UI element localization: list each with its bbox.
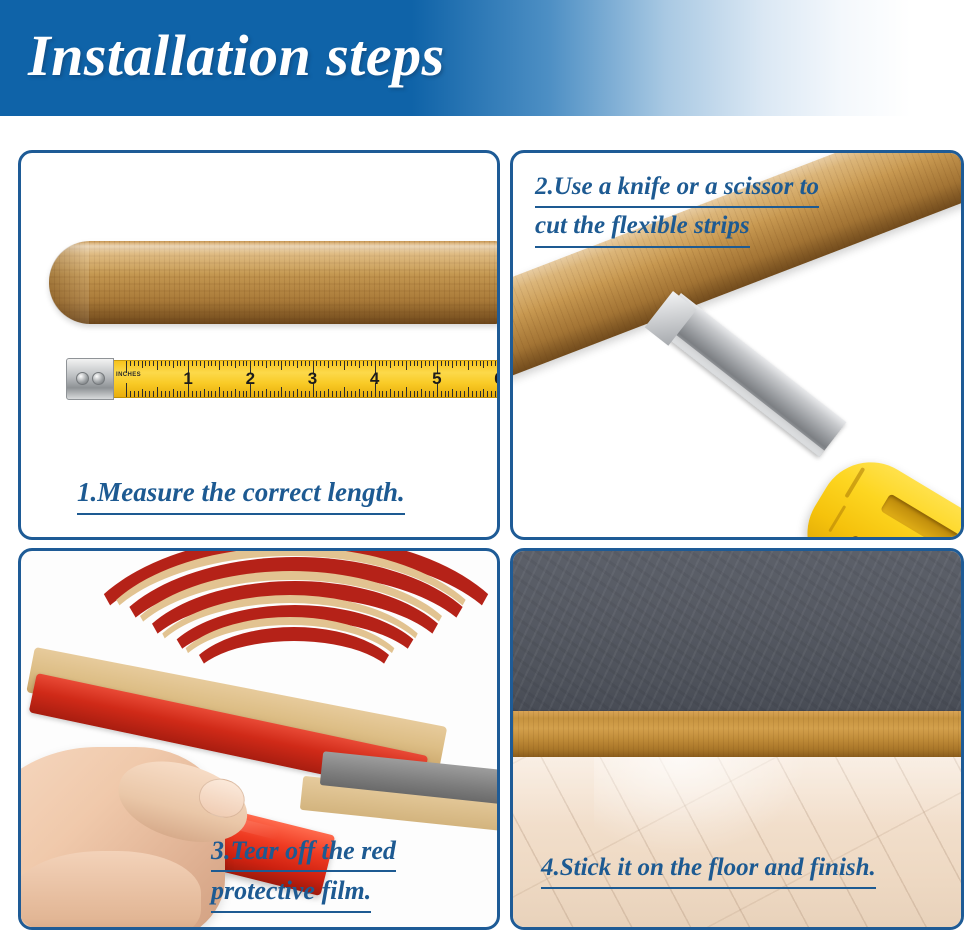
step-3-caption: 3.Tear off the red protective film. [211,832,396,913]
tape-tick [270,361,271,366]
tape-tick [219,387,220,397]
tape-tick [281,387,282,397]
tape-tick [165,361,166,366]
tape-tick [270,391,271,397]
tape-tick [421,389,422,397]
step-2-caption-line2: cut the flexible strips [535,208,750,247]
tape-tick [371,391,372,397]
tape-number-label: 3 [308,369,317,389]
wood-plank-floor [513,757,961,927]
tape-tick [316,361,317,366]
tape-tick [487,391,488,397]
tape-tick [157,387,158,397]
tape-tick [464,361,465,366]
tape-tick [130,361,131,366]
step-panel-3: 3.Tear off the red protective film. [18,548,500,930]
step-panel-1: 123456 INCHES 1.Measure the correct leng… [18,150,500,540]
tape-tick [344,387,345,397]
tape-tick [215,361,216,366]
tape-tick [320,391,321,397]
tape-tick [211,361,212,366]
tape-tick [499,383,500,397]
tape-tick [491,361,492,366]
handle-slot [880,493,964,540]
tape-tick [134,361,135,366]
tape-tick [429,391,430,397]
tape-tick [161,391,162,397]
tape-tick [142,361,143,368]
tape-tick [351,391,352,397]
tape-measure-unit-label: INCHES [116,372,141,378]
tape-tick [153,361,154,366]
tape-tick [161,361,162,366]
tape-tick [344,361,345,370]
tape-tick [254,391,255,397]
tape-tick [359,389,360,397]
tape-tick [379,361,380,366]
tape-tick [301,361,302,366]
tape-tick [487,361,488,366]
tape-tick [472,361,473,366]
tape-measure-hook [66,358,114,400]
tape-tick [367,361,368,366]
tape-tick [340,361,341,366]
tape-tick [355,391,356,397]
tape-tick [379,391,380,397]
tape-tick [433,391,434,397]
floor-light-reflection [594,757,809,856]
tape-tick [464,391,465,397]
tape-tick [480,391,481,397]
tape-tick [460,391,461,397]
tape-tick [239,391,240,397]
tape-tick [351,361,352,366]
tape-tick [235,389,236,397]
tape-tick [367,391,368,397]
tape-tick [200,391,201,397]
tape-tick [285,361,286,366]
tape-tick [173,361,174,368]
tape-tick [262,361,263,366]
step-panel-4: 4.Stick it on the floor and finish. [510,548,964,930]
tape-tick [142,389,143,397]
tape-tick [243,391,244,397]
tape-tick [468,387,469,397]
tape-tick [177,391,178,397]
tape-number-label: 5 [432,369,441,389]
tape-number-label: 6 [494,369,500,389]
tape-hook-rivet [76,372,89,385]
tape-tick [204,361,205,368]
tape-hook-rivet [92,372,105,385]
tape-tick [398,361,399,366]
tape-tick [254,361,255,366]
step-1-caption-text: 1.Measure the correct length. [77,473,405,515]
step-4-caption-text: 4.Stick it on the floor and finish. [541,850,876,889]
tape-tick [293,361,294,366]
tape-tick [200,361,201,366]
tape-tick [246,391,247,397]
tape-tick [417,391,418,397]
tape-tick [223,361,224,366]
tape-tick [402,391,403,397]
tape-tick [192,391,193,397]
tape-tick [246,361,247,366]
tape-tick [130,391,131,397]
tape-tick [196,361,197,366]
hand-fingers [18,851,201,930]
tape-tick [258,391,259,397]
tape-tick [208,361,209,366]
handle-grip-ridge [828,505,846,532]
step-4-caption: 4.Stick it on the floor and finish. [541,850,876,889]
tape-tick [414,391,415,397]
installed-wood-trim [513,711,961,757]
tape-tick [149,361,150,366]
tape-tick [495,391,496,397]
tape-tick [145,361,146,366]
tape-tick [390,389,391,397]
tape-tick [386,361,387,366]
tape-tick [448,361,449,366]
tape-tick [394,361,395,366]
tape-tick [483,389,484,397]
tape-tick [192,361,193,366]
tape-tick [363,361,364,366]
tape-tick [472,391,473,397]
tape-tick [445,391,446,397]
tape-tick [355,361,356,366]
tape-tick [410,391,411,397]
handle-grip-ridge [844,467,865,498]
tape-tick [417,361,418,366]
utility-knife [681,293,964,540]
tape-tick [402,361,403,366]
tape-tick [324,361,325,366]
tape-tick [138,391,139,397]
tape-tick [165,391,166,397]
tape-tick [452,361,453,368]
tape-tick [406,361,407,370]
tape-tick [243,361,244,366]
step-1-caption: 1.Measure the correct length. [77,473,405,515]
handle-slot [845,535,927,540]
tape-tick [258,361,259,366]
tape-tick [134,391,135,397]
tape-tick [429,361,430,366]
tape-tick [266,361,267,368]
tape-tick [157,361,158,370]
tape-tick [184,361,185,366]
tape-tick [316,391,317,397]
tape-tick [336,391,337,397]
tape-tick [227,361,228,366]
tape-tick [231,361,232,366]
tape-tick [239,361,240,366]
tape-tick [390,361,391,368]
tape-tick [452,389,453,397]
tape-tick [468,361,469,370]
tape-tick [281,361,282,370]
tape-tick [305,391,306,397]
tape-tick [309,391,310,397]
tape-tick [274,391,275,397]
tape-tick [278,361,279,366]
tape-tick [491,391,492,397]
tape-tick [289,361,290,366]
tape-tick [231,391,232,397]
tape-tick [227,391,228,397]
tape-tick [495,361,496,366]
tape-measure: 123456 INCHES [66,360,500,396]
tape-number-label: 1 [183,369,192,389]
tape-tick [359,361,360,368]
tape-tick [324,391,325,397]
step-3-caption-line2: protective film. [211,872,371,913]
tape-tick [293,391,294,397]
knife-handle [788,443,964,540]
tape-tick [149,391,150,397]
step-panel-2: 2.Use a knife or a scissor to cut the fl… [510,150,964,540]
tape-tick [309,361,310,366]
tape-tick [184,391,185,397]
tape-tick [363,391,364,397]
tape-tick [297,361,298,368]
tape-tick [262,391,263,397]
tape-tick [153,391,154,397]
tape-tick [410,361,411,366]
tape-tick [414,361,415,366]
tape-tick [301,391,302,397]
tape-tick [371,361,372,366]
tape-tick [278,391,279,397]
tape-tick [180,391,181,397]
tape-tick [347,391,348,397]
tape-tick [169,361,170,366]
tape-tick [441,391,442,397]
tape-tick [499,361,500,373]
tape-tick [180,361,181,366]
tape-measure-body: 123456 [108,360,500,398]
tape-tick [235,361,236,368]
tape-tick [297,389,298,397]
tape-tick [406,387,407,397]
tape-tick [347,361,348,366]
tape-tick [476,391,477,397]
tape-tick [289,391,290,397]
tape-tick [332,391,333,397]
tape-tick [433,361,434,366]
tape-tick [336,361,337,366]
steps-grid: 123456 INCHES 1.Measure the correct leng… [18,150,964,930]
tape-tick [145,391,146,397]
tape-tick [332,361,333,366]
tape-tick [320,361,321,366]
tape-tick [448,391,449,397]
tape-tick [305,361,306,366]
tape-tick [196,391,197,397]
tape-tick [266,389,267,397]
tape-tick [138,361,139,366]
tape-tick [460,361,461,366]
tape-tick [445,361,446,366]
tape-tick [274,361,275,366]
tape-tick [219,361,220,370]
tape-tick [425,361,426,366]
tape-number-label: 4 [370,369,379,389]
tape-tick [328,389,329,397]
tape-tick [386,391,387,397]
step-2-caption-line1: 2.Use a knife or a scissor to [535,169,819,208]
tape-tick [480,361,481,366]
tape-tick [204,389,205,397]
tape-number-label: 2 [246,369,255,389]
tape-tick [476,361,477,366]
wood-trim-strip [49,241,500,324]
tape-tick [208,391,209,397]
tape-tick [169,391,170,397]
tape-tick [421,361,422,368]
tape-tick [173,389,174,397]
tape-tick [394,391,395,397]
tape-tick [211,391,212,397]
tape-tick [328,361,329,368]
tape-tick [382,391,383,397]
tape-tick [483,361,484,368]
dark-wall [513,551,961,711]
tape-tick [441,361,442,366]
tape-tick [177,361,178,366]
header-banner: Installation steps [0,0,980,116]
tape-tick [126,383,127,397]
step-3-caption-line1: 3.Tear off the red [211,832,396,873]
tape-tick [398,391,399,397]
tape-tick [425,391,426,397]
tape-tick [340,391,341,397]
tape-tick [456,361,457,366]
tape-tick [215,391,216,397]
page-title: Installation steps [28,20,445,92]
tape-tick [382,361,383,366]
step-2-caption: 2.Use a knife or a scissor to cut the fl… [535,169,819,248]
tape-tick [223,391,224,397]
tape-tick [285,391,286,397]
tape-tick [456,391,457,397]
